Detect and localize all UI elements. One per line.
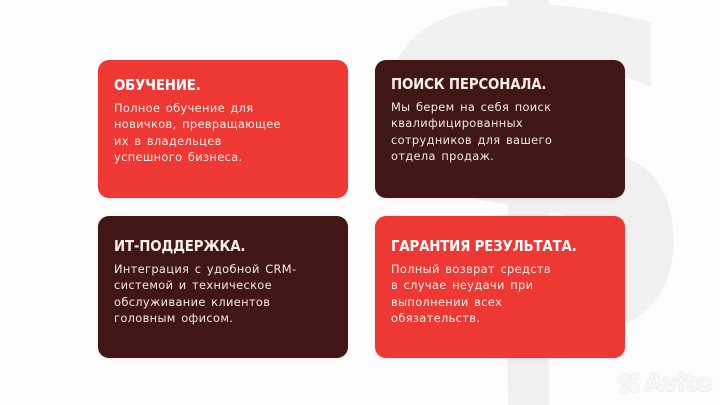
avito-wordmark: Avito: [645, 368, 712, 397]
card-title: ПОИСК ПЕРСОНАЛА.: [391, 76, 579, 92]
feature-card-it-podderzhka[interactable]: ИТ-ПОДДЕРЖКА. Интеграция с удобной CRM- …: [98, 216, 348, 358]
avito-watermark: Avito: [618, 368, 712, 397]
card-body: Полное обучение для новичков, превращающ…: [114, 100, 333, 165]
card-title: ГАРАНТИЯ РЕЗУЛЬТАТА.: [391, 238, 579, 254]
card-body: Мы берем на себя поиск квалифицированных…: [391, 99, 610, 164]
feature-card-obuchenie[interactable]: ОБУЧЕНИЕ. Полное обучение для новичков, …: [98, 60, 348, 198]
card-body: Полный возврат средств в случае неудачи …: [391, 261, 610, 326]
card-title: ИТ-ПОДДЕРЖКА.: [114, 238, 302, 254]
slide-canvas: $ ОБУЧЕНИЕ. Полное обучение для новичков…: [0, 0, 720, 405]
feature-card-grid: ОБУЧЕНИЕ. Полное обучение для новичков, …: [98, 60, 625, 358]
feature-card-poisk-personala[interactable]: ПОИСК ПЕРСОНАЛА. Мы берем на себя поиск …: [375, 60, 625, 198]
card-title: ОБУЧЕНИЕ.: [114, 77, 302, 93]
card-body: Интеграция с удобной CRM- системой и тех…: [114, 261, 333, 326]
feature-card-garantiya-rezultata[interactable]: ГАРАНТИЯ РЕЗУЛЬТАТА. Полный возврат сред…: [375, 216, 625, 358]
avito-dots-icon: [618, 372, 642, 394]
